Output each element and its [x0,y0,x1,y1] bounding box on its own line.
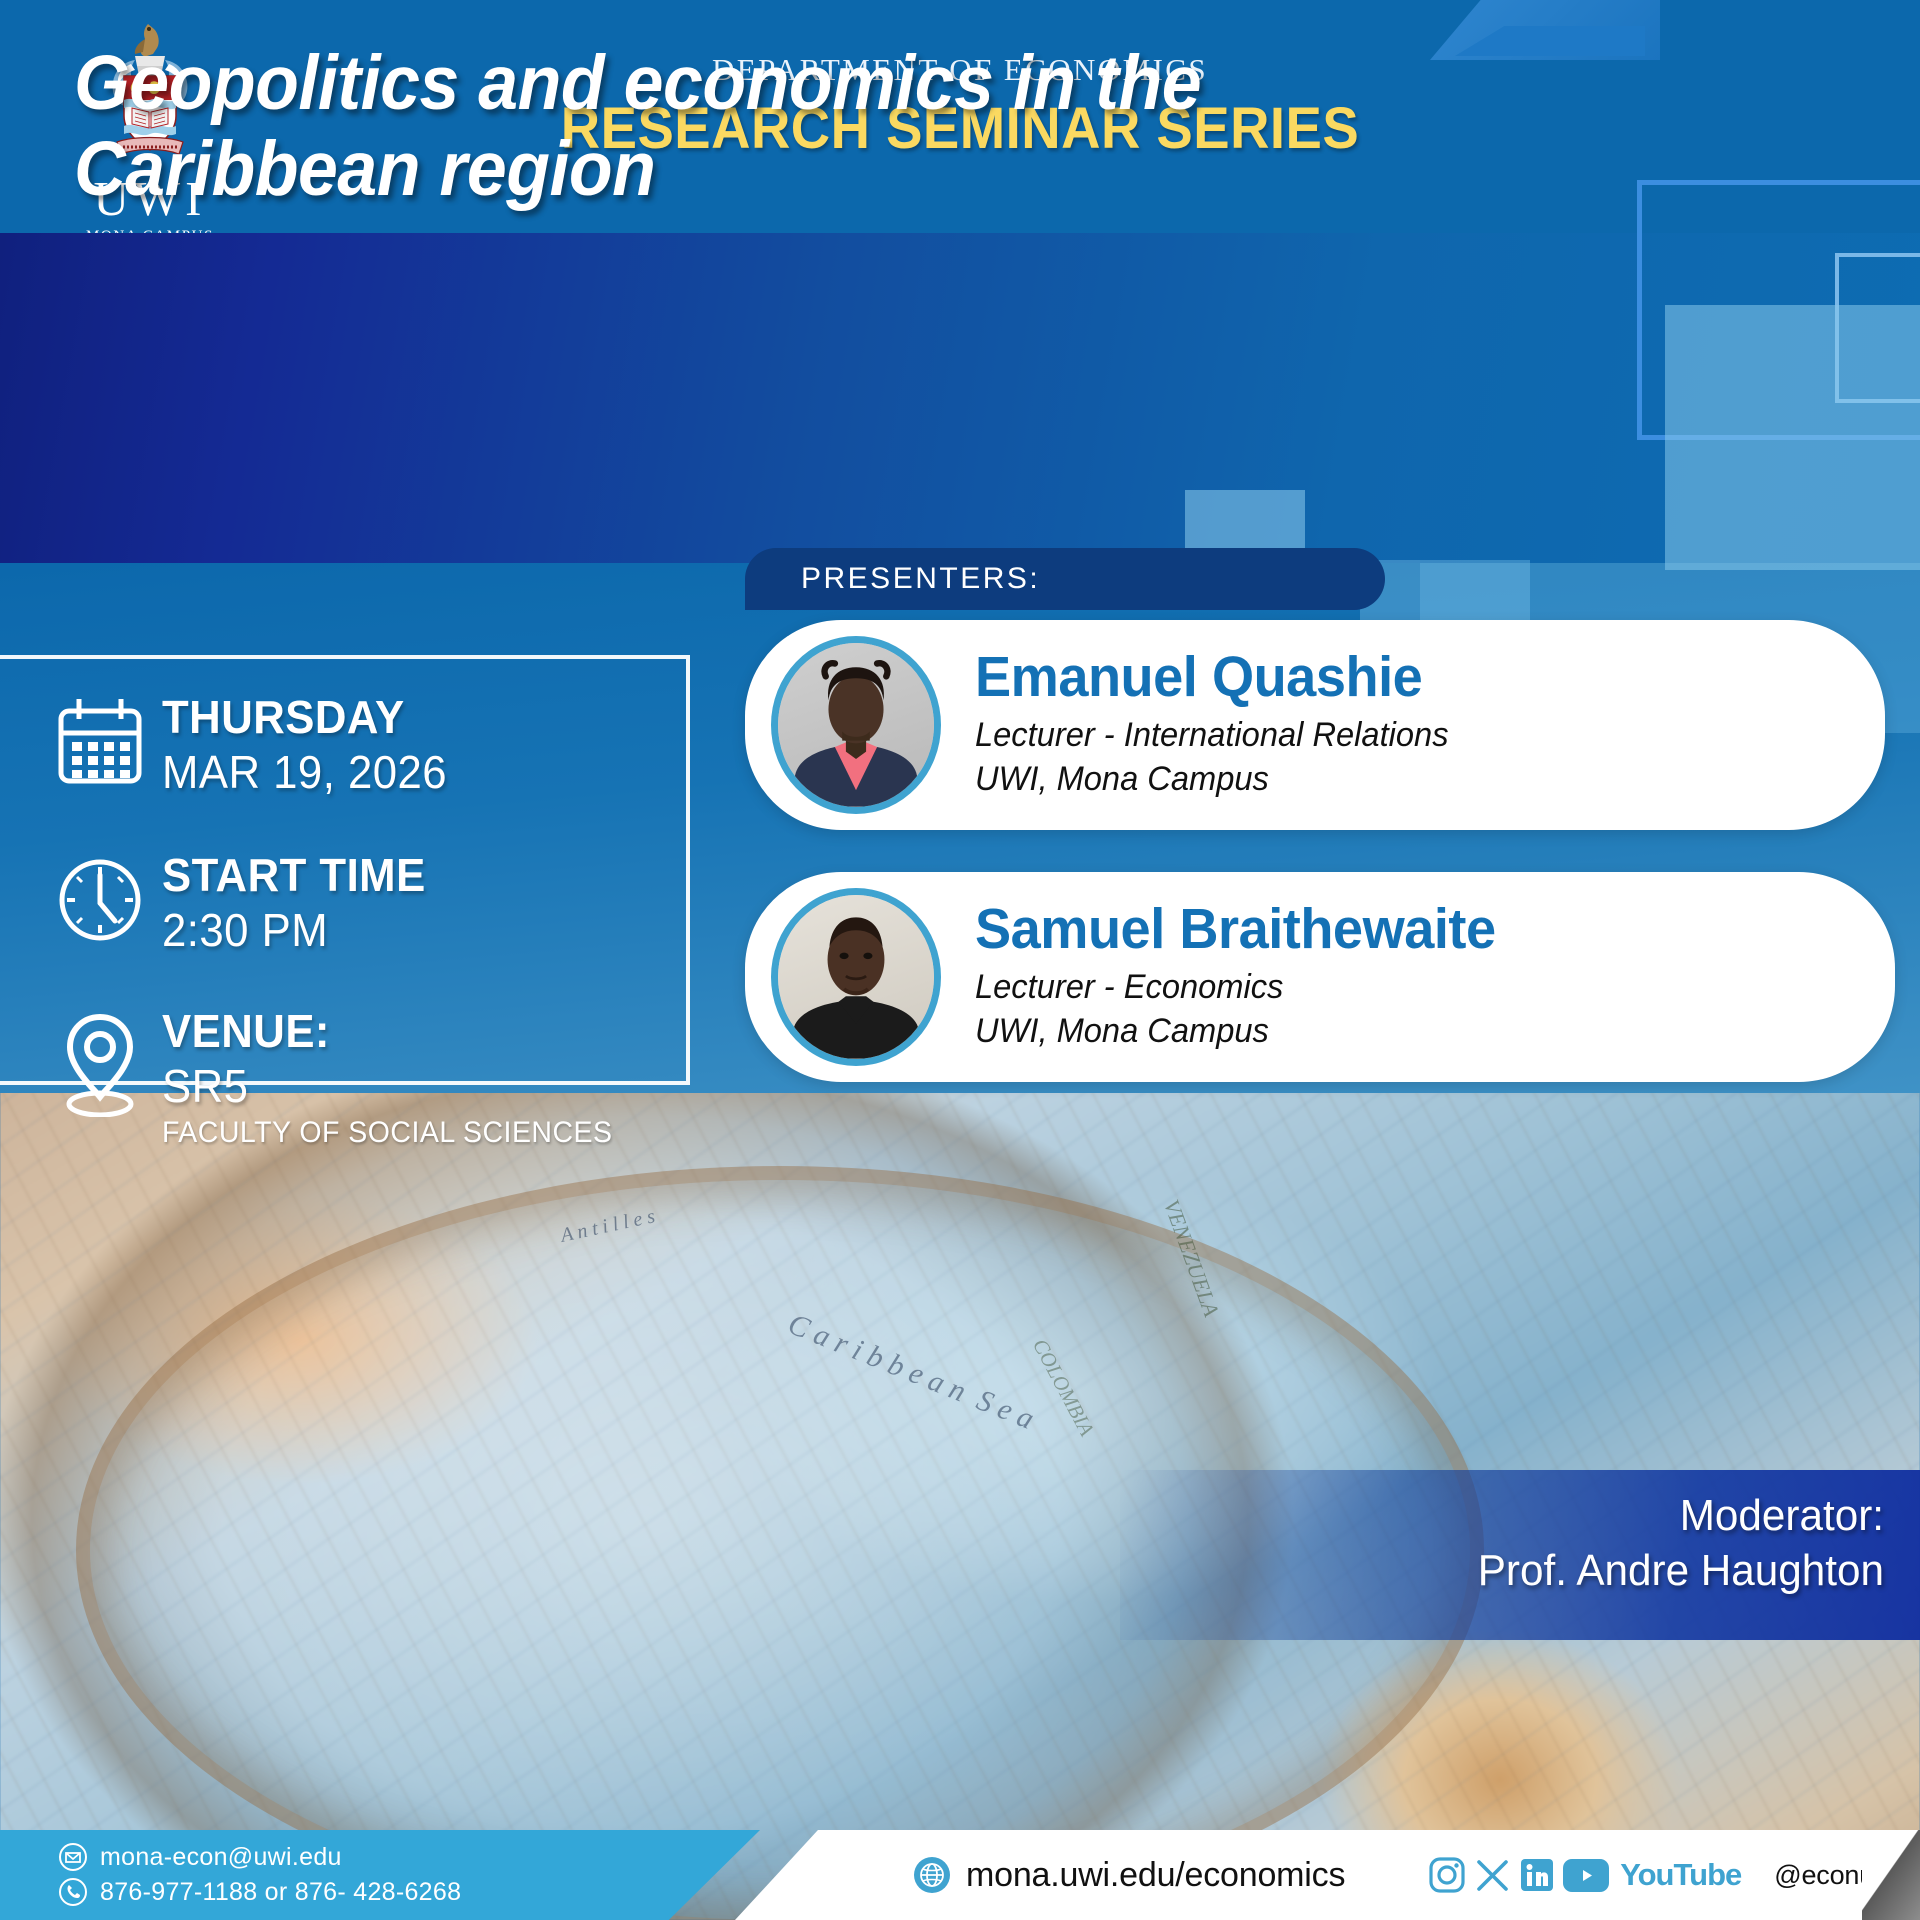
page-title: Geopolitics and economics in the Caribbe… [74,40,1395,212]
footer: mona-econ@uwi.edu 876-977-1188 or 876- 4… [0,1830,1920,1920]
event-venue-row: VENUE: SR5 FACULTY OF SOCIAL SCIENCES [46,1007,636,1149]
event-venue-room: SR5 [162,1059,613,1113]
presenter-card-2: Samuel Braithewaite Lecturer - Economics… [745,872,1895,1082]
event-time-value: 2:30 PM [162,903,426,957]
event-date: MAR 19, 2026 [162,745,447,799]
calendar-icon [46,693,154,791]
presenter-name: Samuel Braithewaite [975,901,1496,958]
avatar [771,888,941,1066]
presenter-name: Emanuel Quashie [975,649,1444,706]
phone-icon [58,1877,88,1907]
globe-icon [910,1853,954,1897]
presenter-role: Lecturer - Economics [975,966,1501,1010]
footer-phone-text: 876-977-1188 or 876- 428-6268 [100,1878,461,1907]
moderator-name: Prof. Andre Haughton [1151,1543,1884,1598]
avatar [771,636,941,814]
event-time-label: START TIME [162,851,426,899]
decorative-square-fill-large [1665,305,1920,570]
instagram-icon[interactable] [1427,1855,1467,1895]
footer-email-row[interactable]: mona-econ@uwi.edu [58,1842,760,1872]
youtube-icon[interactable] [1563,1859,1609,1892]
event-details-panel: THURSDAY MAR 19, 2026 [0,655,690,1085]
youtube-wordmark: YouTube [1620,1857,1741,1893]
presenter-affiliation: UWI, Mona Campus [975,758,1449,802]
moderator-label: Moderator: [1151,1488,1884,1543]
presenters-heading-label: PRESENTERS: [801,562,1040,596]
event-venue-label: VENUE: [162,1007,613,1055]
location-pin-icon [46,1007,154,1117]
envelope-icon [58,1842,88,1872]
presenter-role: Lecturer - International Relations [975,714,1449,758]
footer-corner-accent [1862,1830,1920,1920]
x-twitter-icon[interactable] [1474,1857,1511,1894]
footer-website-row[interactable]: mona.uwi.edu/economics [910,1853,1345,1897]
title-band [0,233,1920,563]
presenters-heading-badge: PRESENTERS: [745,548,1385,610]
event-date-row: THURSDAY MAR 19, 2026 [46,693,462,800]
linkedin-icon[interactable] [1518,1856,1556,1894]
footer-contact-block: mona-econ@uwi.edu 876-977-1188 or 876- 4… [0,1830,760,1920]
presenter-card-1: Emanuel Quashie Lecturer - International… [745,620,1885,830]
event-venue-building: FACULTY OF SOCIAL SCIENCES [162,1116,613,1149]
event-day: THURSDAY [162,693,447,741]
social-links: YouTube @econuwimona [1427,1855,1920,1895]
event-time-row: START TIME 2:30 PM [46,851,440,958]
moderator-block: Moderator: Prof. Andre Haughton [1120,1470,1920,1640]
presenter-affiliation: UWI, Mona Campus [975,1010,1501,1054]
clock-icon [46,851,154,949]
seminar-poster: C a r i b b e a n S e a A n t i l l e s … [0,0,1920,1920]
footer-phone-row[interactable]: 876-977-1188 or 876- 428-6268 [58,1877,760,1907]
footer-web-block: mona.uwi.edu/economics [735,1830,1920,1920]
footer-website-text: mona.uwi.edu/economics [966,1856,1345,1895]
footer-email-text: mona-econ@uwi.edu [100,1843,342,1872]
